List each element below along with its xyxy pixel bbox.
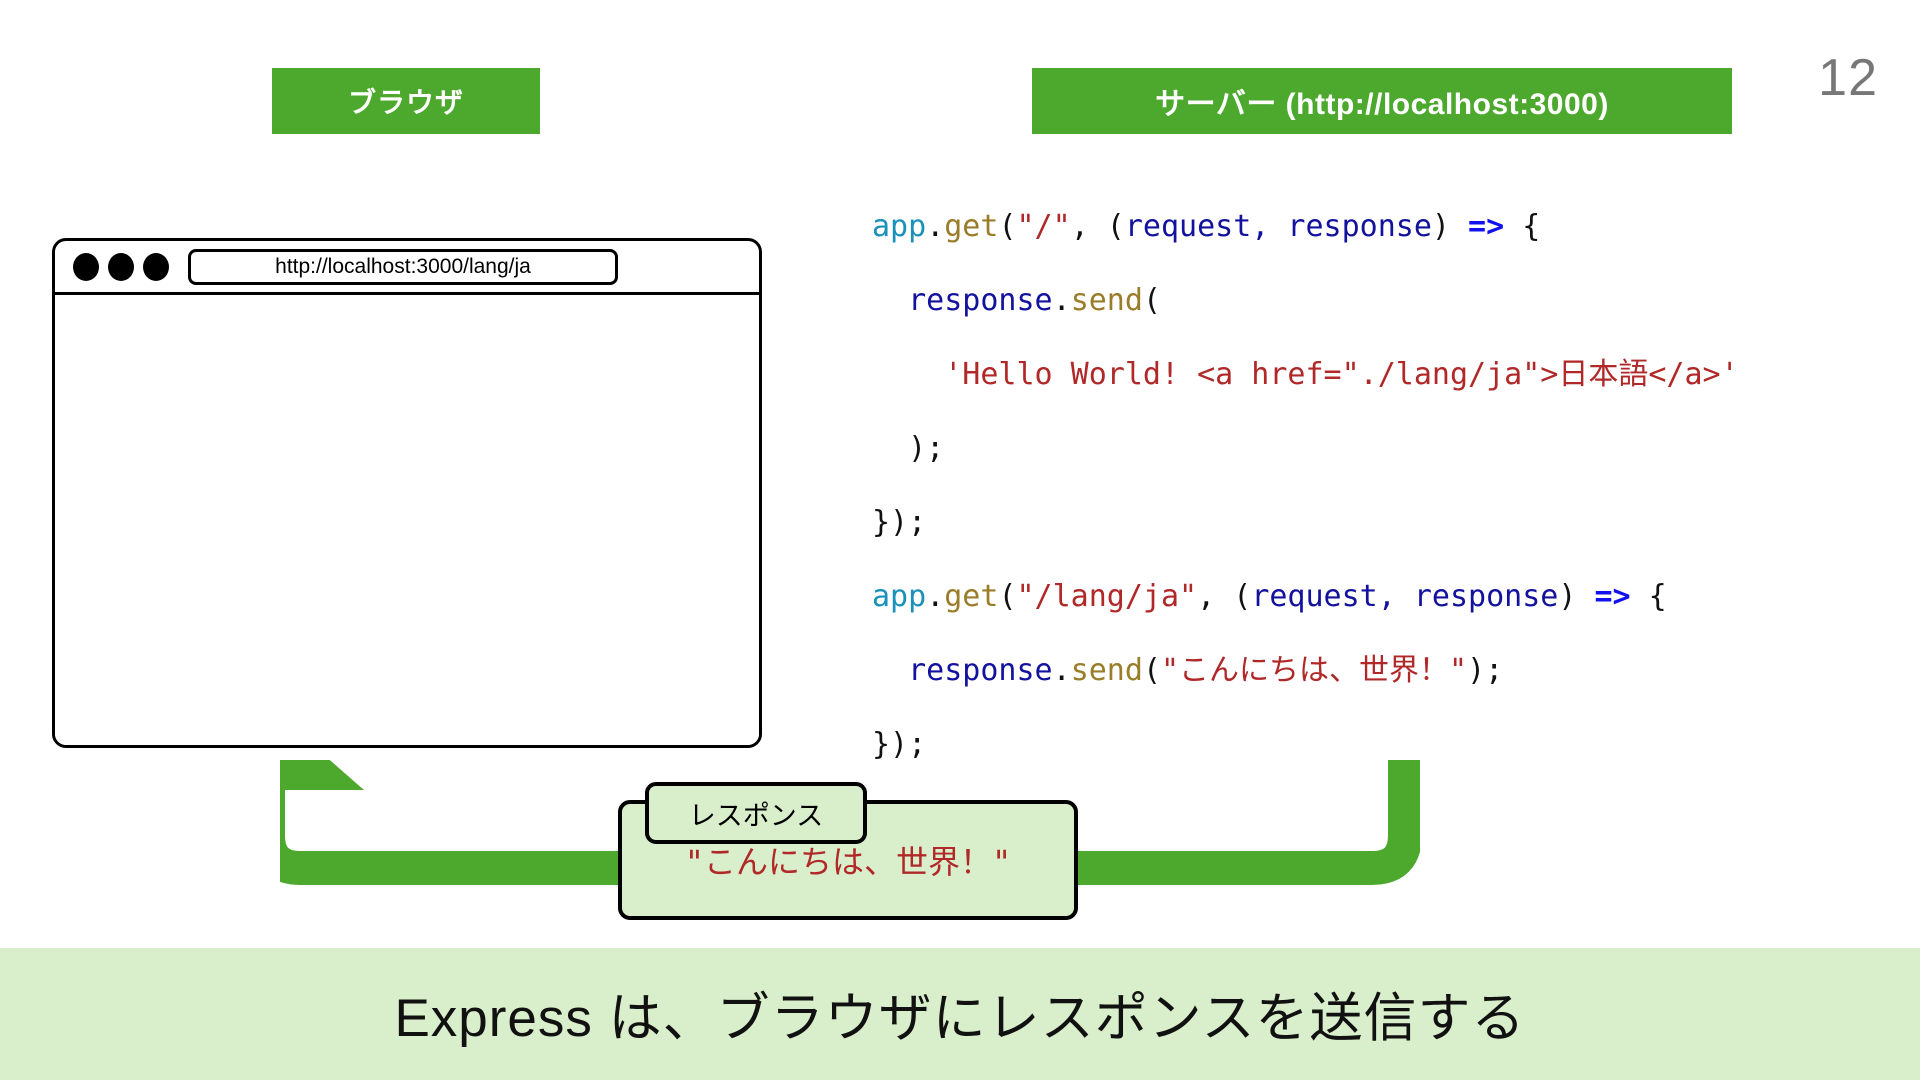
browser-url-text: http://localhost:3000/lang/ja: [275, 255, 531, 279]
code-token: 'Hello World! <a href="./lang/ja">日本語</a…: [944, 357, 1738, 392]
code-line: );: [872, 412, 1882, 486]
browser-titlebar: http://localhost:3000/lang/ja: [55, 241, 759, 295]
code-token: [872, 357, 944, 392]
code-token: send: [1071, 653, 1143, 688]
code-token: ): [1558, 579, 1594, 614]
page-number: 12: [1818, 52, 1878, 104]
code-token: =>: [1468, 209, 1504, 244]
code-line: });: [872, 708, 1882, 782]
browser-column-header: ブラウザ: [272, 68, 540, 134]
browser-address-bar[interactable]: http://localhost:3000/lang/ja: [188, 249, 618, 285]
code-token: .: [926, 209, 944, 244]
code-token: );: [872, 431, 944, 466]
code-token: .: [926, 579, 944, 614]
code-line: response.send("こんにちは、世界！");: [872, 634, 1882, 708]
browser-viewport: [55, 295, 759, 745]
code-token: );: [1467, 653, 1503, 688]
code-token: (: [1143, 653, 1161, 688]
browser-column-header-label: ブラウザ: [348, 81, 464, 121]
code-token: "/": [1017, 209, 1071, 244]
code-token: , (: [1197, 579, 1251, 614]
code-token: });: [872, 727, 926, 762]
traffic-light-minimize-icon[interactable]: [108, 253, 134, 281]
response-callout-tab: レスポンス: [645, 782, 867, 844]
traffic-light-close-icon[interactable]: [73, 253, 99, 281]
code-token: .: [1053, 283, 1071, 318]
code-token: (: [1143, 283, 1161, 318]
code-line: response.send(: [872, 264, 1882, 338]
slide-caption-text: Express は、ブラウザにレスポンスを送信する: [394, 976, 1525, 1052]
code-token: (: [998, 579, 1016, 614]
slide-caption-bar: Express は、ブラウザにレスポンスを送信する: [0, 948, 1920, 1080]
code-token: ): [1432, 209, 1468, 244]
code-token: request, response: [1251, 579, 1558, 614]
code-token: "/lang/ja": [1017, 579, 1198, 614]
server-column-header-label: サーバー (http://localhost:3000): [1155, 79, 1609, 123]
code-token: send: [1071, 283, 1143, 318]
code-token: request, response: [1125, 209, 1432, 244]
server-column-header: サーバー (http://localhost:3000): [1032, 68, 1732, 134]
code-token: response: [908, 283, 1053, 318]
code-token: =>: [1594, 579, 1630, 614]
response-callout-tab-label: レスポンス: [689, 794, 823, 833]
code-line: 'Hello World! <a href="./lang/ja">日本語</a…: [872, 338, 1882, 412]
code-token: {: [1631, 579, 1667, 614]
code-token: .: [1053, 653, 1071, 688]
code-token: "こんにちは、世界！": [1161, 653, 1467, 688]
code-token: {: [1504, 209, 1540, 244]
code-token: get: [944, 579, 998, 614]
browser-window-mockup: http://localhost:3000/lang/ja: [52, 238, 762, 748]
code-token: [872, 653, 908, 688]
code-token: (: [998, 209, 1016, 244]
code-token: app: [872, 209, 926, 244]
code-line: app.get("/", (request, response) => {: [872, 190, 1882, 264]
code-token: get: [944, 209, 998, 244]
code-token: response: [908, 653, 1053, 688]
code-token: , (: [1071, 209, 1125, 244]
code-token: app: [872, 579, 926, 614]
code-token: [872, 283, 908, 318]
code-token: });: [872, 505, 926, 540]
traffic-light-maximize-icon[interactable]: [143, 253, 169, 281]
code-line: app.get("/lang/ja", (request, response) …: [872, 560, 1882, 634]
code-line: });: [872, 486, 1882, 560]
server-code-block: app.get("/", (request, response) => { re…: [872, 190, 1882, 782]
